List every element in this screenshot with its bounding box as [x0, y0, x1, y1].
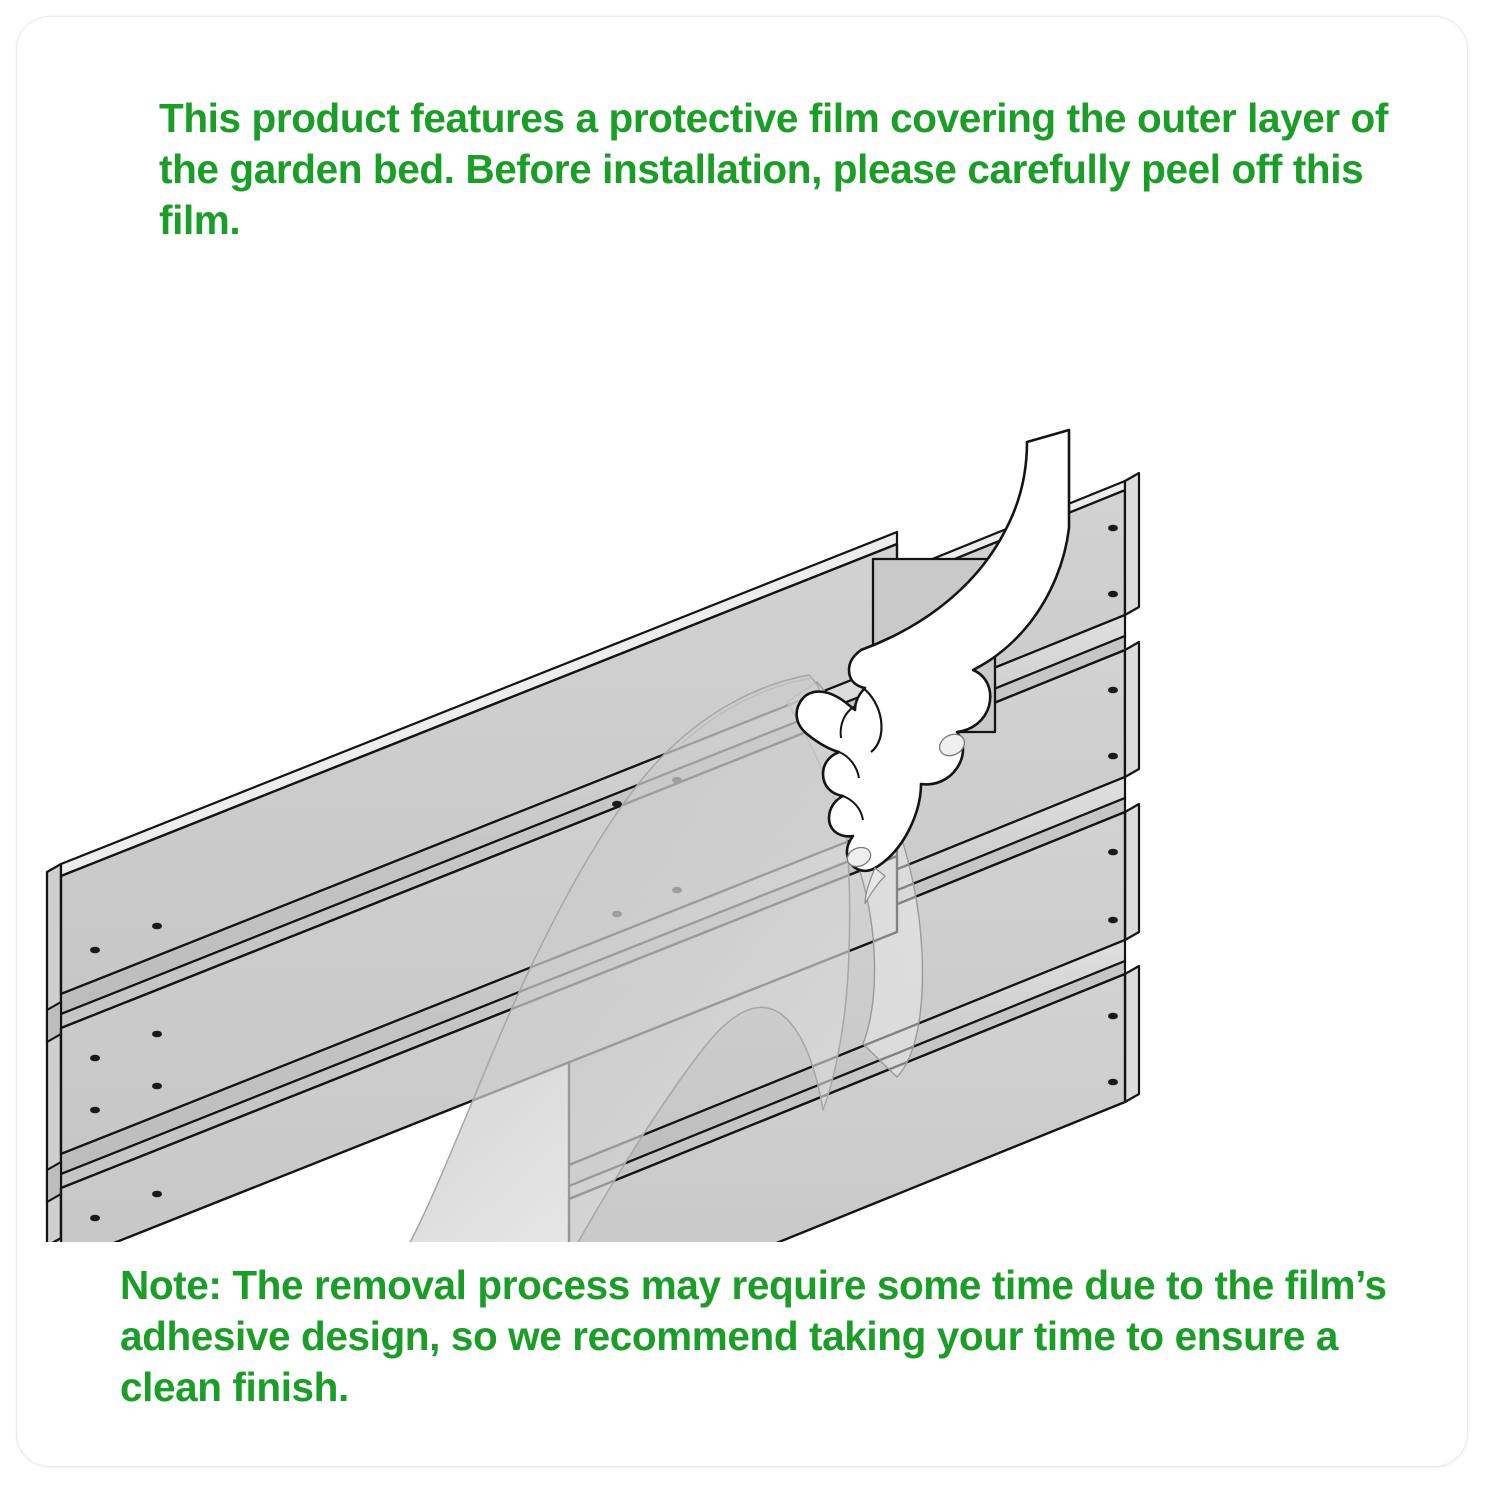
panel-assembly	[47, 430, 1139, 1242]
right-edge-seg-1	[1125, 473, 1139, 615]
garden-bed-film-illustration	[17, 232, 1468, 1242]
right-edge-seg-2	[1125, 642, 1139, 777]
right-edge-seg-3	[1125, 804, 1139, 940]
right-edge-return	[1125, 473, 1139, 1102]
right-edge-seg-4	[1125, 966, 1139, 1102]
heading-instruction-text: This product features a protective film …	[159, 93, 1389, 246]
front-left-step-1	[47, 1002, 61, 1042]
instruction-card: This product features a protective film …	[16, 16, 1468, 1467]
page-root: This product features a protective film …	[0, 0, 1500, 1499]
front-left-step-2	[47, 1162, 61, 1202]
note-instruction-text: Note: The removal process may require so…	[120, 1260, 1420, 1413]
